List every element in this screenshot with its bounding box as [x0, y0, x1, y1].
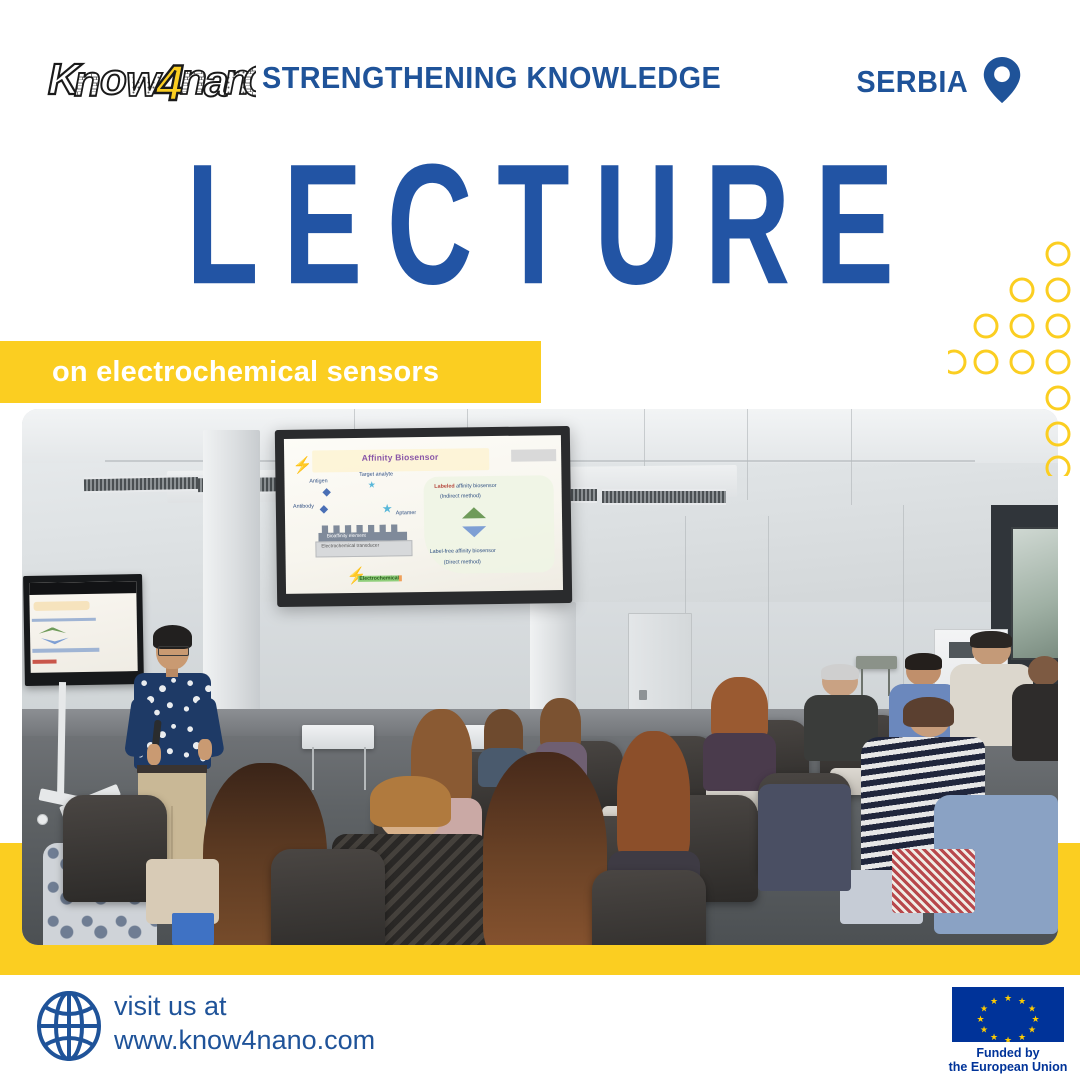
svg-text:★: ★ [1028, 1026, 1036, 1036]
photo-jeans [758, 784, 851, 891]
slide-label-bioaffinity: Bioaffinity element [327, 534, 366, 540]
presenter-glasses [158, 646, 189, 656]
slide-antigen-marker [319, 505, 327, 513]
audience-person [809, 666, 871, 757]
svg-text:★: ★ [990, 1033, 998, 1042]
location-badge: SERBIA [848, 60, 1022, 104]
audience-chair [592, 870, 706, 945]
svg-text:★: ★ [990, 997, 998, 1007]
svg-text:★: ★ [1028, 1005, 1036, 1015]
svg-text:★: ★ [1031, 1015, 1039, 1025]
slide-label-target-analyte: Target analyte [359, 471, 393, 477]
slide-indirect-method: (Indirect method) [440, 493, 481, 500]
photo-checked-fabric [892, 849, 975, 913]
photo-door-handle [639, 690, 647, 700]
eu-caption-line2: the European Union [948, 1060, 1068, 1074]
presenter-belt [137, 765, 207, 773]
presenter-hand [198, 739, 211, 760]
slide-label-transducer: Electrochemical transducer [321, 544, 379, 550]
poster-footer: visit us at www.know4nano.com ★★★ ★★★ ★★… [0, 975, 1080, 1080]
photo-tv-screen-topbar [29, 581, 136, 595]
slide-labeled-rest: affinity biosensor [454, 482, 496, 489]
footer-visit-label: visit us at [114, 989, 375, 1023]
svg-text:★: ★ [1018, 1033, 1026, 1042]
audience-person [706, 677, 773, 784]
svg-text:★: ★ [1018, 997, 1026, 1007]
country-label: SERBIA [856, 64, 968, 100]
wall-seam [747, 409, 748, 500]
subtitle-banner: on electrochemical sensors [0, 341, 541, 403]
svg-text:n: n [180, 55, 207, 104]
svg-text:O: O [242, 57, 256, 106]
slide-label-antibody: Antibody [293, 503, 314, 509]
photo-bench-leg [364, 747, 366, 790]
footer-website-url[interactable]: www.know4nano.com [114, 1023, 375, 1057]
poster-header: K n o w 4 n a n O STRENGTHENING KNOWLEDG… [0, 46, 1080, 116]
map-pin-icon [982, 56, 1022, 104]
projection-screen: Affinity Biosensor ⚡ Antigen Target anal… [275, 426, 573, 607]
header-tagline: STRENGTHENING KNOWLEDGE [262, 60, 721, 96]
slide-bottom-note: Electrochemical [358, 575, 402, 582]
audience-chair [271, 849, 385, 945]
photo-blue-item [172, 913, 213, 945]
slide-chevron-up-icon [462, 507, 486, 518]
photo-caster-wheel [37, 814, 48, 825]
slide-label-antigen: Antigen [309, 478, 327, 484]
slide-header-chip [511, 449, 556, 462]
yellow-circle-grid [948, 236, 1080, 476]
svg-text:★: ★ [1004, 994, 1012, 1004]
hvac-vent [602, 489, 726, 505]
svg-text:★: ★ [980, 1005, 988, 1015]
slide-label-aptamer: Aptamer [396, 510, 416, 516]
eu-flag-icon: ★★★ ★★★ ★★★ ★★★ [952, 987, 1064, 1042]
audience-person [1017, 656, 1058, 758]
slide-analyte-star: ★ [367, 481, 375, 490]
svg-text:★: ★ [976, 1015, 984, 1025]
slide-title: Affinity Biosensor [361, 452, 438, 463]
poster-canvas: K n o w 4 n a n O STRENGTHENING KNOWLEDG… [0, 0, 1080, 1080]
presenter-hand [147, 744, 160, 765]
slide-antigen-marker [322, 488, 330, 496]
footer-website-block: visit us at www.know4nano.com [114, 989, 375, 1057]
slide-direct-method: (Direct method) [443, 559, 480, 566]
svg-text:★: ★ [980, 1026, 988, 1036]
slide-chevron-down-icon [462, 526, 486, 537]
globe-icon [34, 991, 104, 1061]
photo-bench [302, 725, 375, 749]
slide-aptamer-star: ★ [382, 504, 393, 513]
subtitle-text: on electrochemical sensors [52, 356, 439, 389]
svg-text:o: o [100, 55, 127, 104]
slide-labeled-strong: Labeled [434, 483, 454, 489]
page-title: LECTURE [151, 146, 929, 302]
svg-text:n: n [74, 57, 101, 106]
know4nano-logo-icon: K n o w 4 n a n O [46, 50, 256, 110]
slide-labelfree: Label-free affinity biosensor [429, 548, 495, 555]
projection-slide: Affinity Biosensor ⚡ Antigen Target anal… [284, 435, 564, 595]
eu-funding-badge: ★★★ ★★★ ★★★ ★★★ Funded by the European U… [948, 987, 1068, 1074]
hvac-vent [84, 475, 209, 493]
lecture-photo: Affinity Biosensor ⚡ Antigen Target anal… [22, 409, 1058, 945]
svg-text:★: ★ [1004, 1036, 1012, 1042]
wall-seam [851, 409, 852, 505]
eu-caption-line1: Funded by [948, 1046, 1068, 1060]
